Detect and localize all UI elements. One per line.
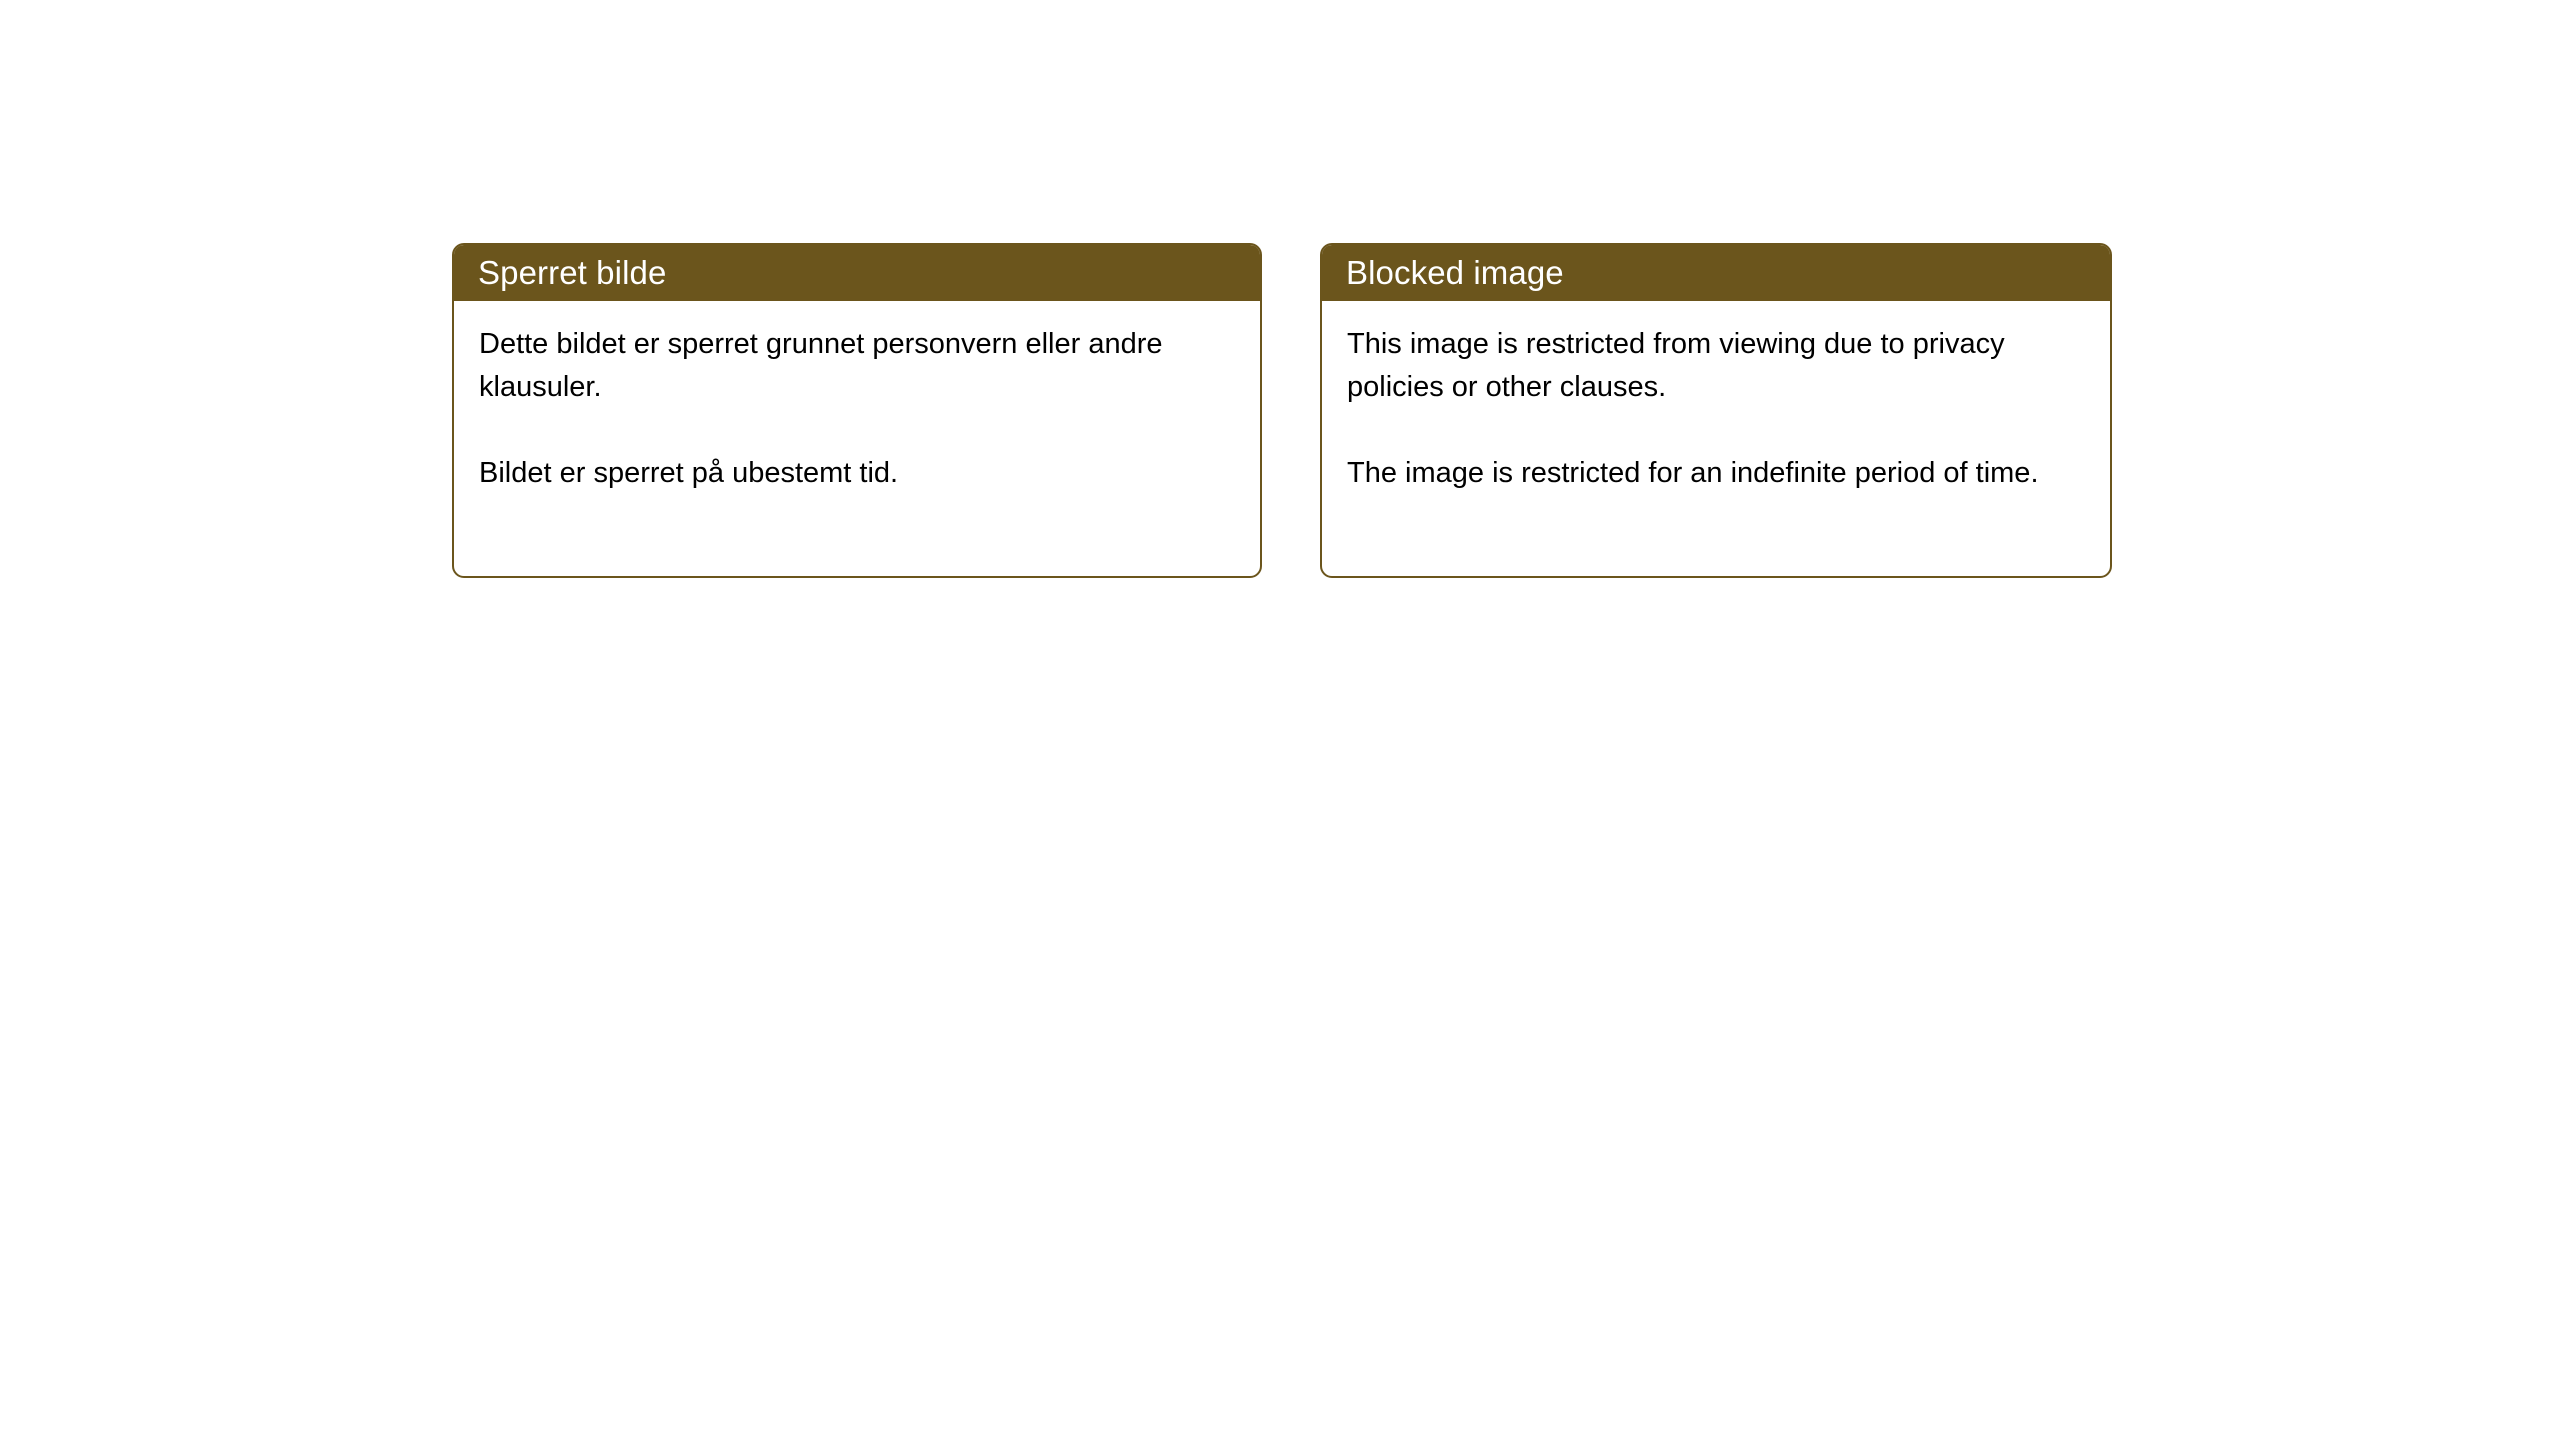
blocked-image-notice-card-en: Blocked image This image is restricted f… — [1320, 243, 2112, 578]
notice-body-no: Dette bildet er sperret grunnet personve… — [454, 301, 1260, 576]
notice-paragraph-duration-en: The image is restricted for an indefinit… — [1347, 452, 2086, 495]
blocked-image-notice-card-no: Sperret bilde Dette bildet er sperret gr… — [452, 243, 1262, 578]
notice-title-no: Sperret bilde — [478, 256, 666, 289]
notice-paragraph-reason-no: Dette bildet er sperret grunnet personve… — [479, 323, 1236, 409]
notice-paragraph-reason-en: This image is restricted from viewing du… — [1347, 323, 2086, 409]
notice-title-en: Blocked image — [1346, 256, 1564, 289]
notice-header-en: Blocked image — [1321, 244, 2111, 301]
notice-body-en: This image is restricted from viewing du… — [1322, 301, 2110, 576]
blocked-image-notice-group: Sperret bilde Dette bildet er sperret gr… — [452, 243, 2112, 578]
notice-header-no: Sperret bilde — [453, 244, 1261, 301]
notice-paragraph-duration-no: Bildet er sperret på ubestemt tid. — [479, 452, 1236, 495]
